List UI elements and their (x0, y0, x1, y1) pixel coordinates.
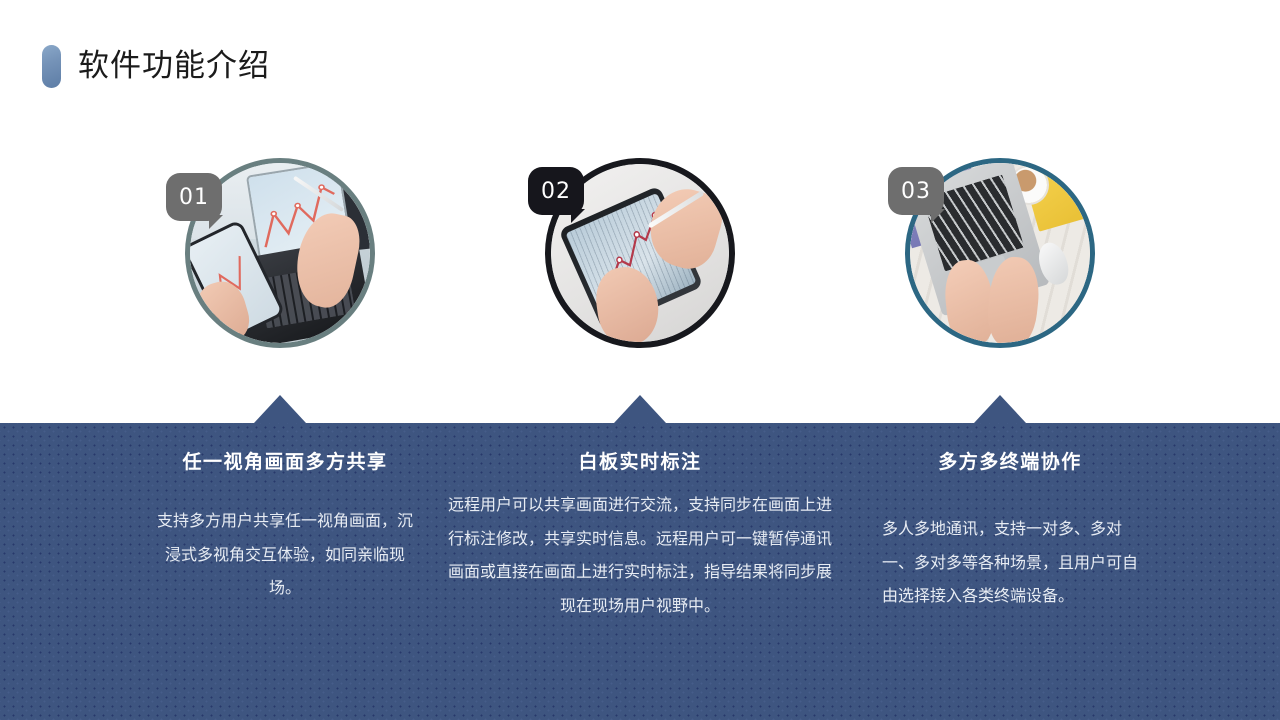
badge-01-label: 01 (179, 185, 209, 210)
badge-03: 03 (888, 167, 944, 215)
content-panel: 任一视角画面多方共享 支持多方用户共享任一视角画面，沉浸式多视角交互体验，如同亲… (0, 423, 1280, 720)
feature-heading-1: 任一视角画面多方共享 (140, 447, 430, 474)
badge-02: 02 (528, 167, 584, 215)
feature-column-1: 任一视角画面多方共享 支持多方用户共享任一视角画面，沉浸式多视角交互体验，如同亲… (140, 447, 430, 605)
feature-heading-2: 白板实时标注 (440, 447, 840, 474)
badge-02-label: 02 (541, 179, 571, 204)
feature-body-2: 远程用户可以共享画面进行交流，支持同步在画面上进行标注修改，共享实时信息。远程用… (440, 488, 840, 622)
feature-column-2: 白板实时标注 远程用户可以共享画面进行交流，支持同步在画面上进行标注修改，共享实… (440, 447, 840, 622)
feature-heading-3: 多方多终端协作 (860, 447, 1160, 474)
panel-columns: 任一视角画面多方共享 支持多方用户共享任一视角画面，沉浸式多视角交互体验，如同亲… (0, 423, 1280, 720)
badge-01: 01 (166, 173, 222, 221)
badge-03-label: 03 (901, 179, 931, 204)
feature-column-3: 多方多终端协作 多人多地通讯，支持一对多、多对一、多对多等各种场景，且用户可自由… (860, 447, 1160, 613)
panel-arrow-3 (974, 395, 1026, 423)
panel-arrow-2 (614, 395, 666, 423)
feature-body-1: 支持多方用户共享任一视角画面，沉浸式多视角交互体验，如同亲临现场。 (140, 504, 430, 605)
feature-body-3: 多人多地通讯，支持一对多、多对一、多对多等各种场景，且用户可自由选择接入各类终端… (860, 512, 1160, 613)
panel-arrow-1 (254, 395, 306, 423)
circle-photo-row: 01 02 03 (0, 0, 1280, 420)
